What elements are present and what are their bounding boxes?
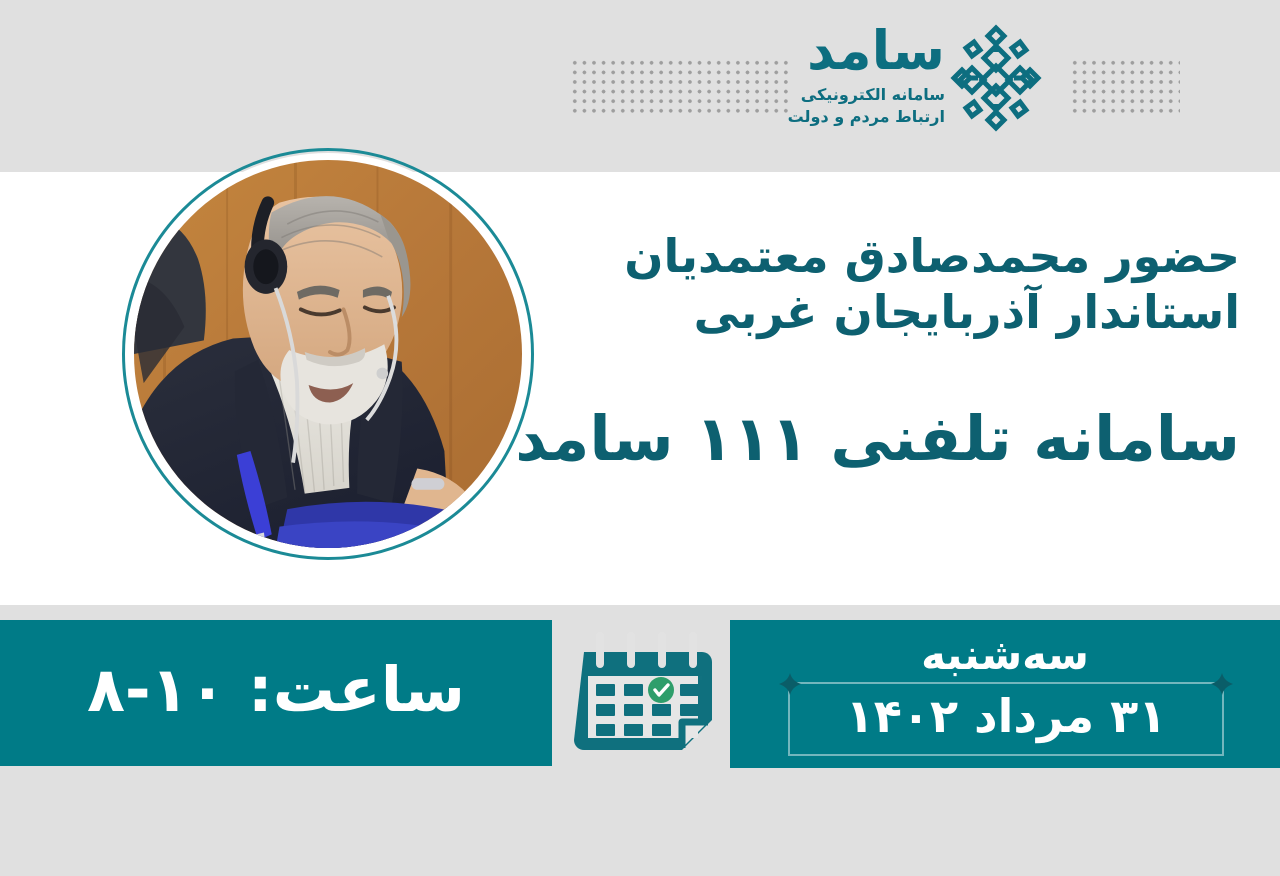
calendar-check-icon (570, 630, 716, 760)
logo-subtitle-line-1: سامانه الکترونیکی (788, 84, 945, 106)
date-frame: ۳۱ مرداد ۱۴۰۲ (788, 682, 1224, 756)
time-value: ساعت: ۱۰-۸ (0, 620, 552, 766)
poster-root: سامد سامانه الکترونیکی ارتباط مردم و دول… (0, 0, 1280, 876)
page-title: حضور محمدصادق معتمدیان استاندار آذربایجا… (540, 228, 1240, 340)
logo-wordmark: سامد (807, 24, 945, 78)
date-panel: سه‌شنبه ۳۱ مرداد ۱۴۰۲ (730, 620, 1280, 768)
header: سامد سامانه الکترونیکی ارتباط مردم و دول… (0, 0, 1280, 172)
subheadline: سامانه تلفنی ۱۱۱ سامد (540, 402, 1240, 476)
headline-line-1: حضور محمدصادق معتمدیان (540, 228, 1240, 284)
samad-geometric-star-logo-icon (946, 22, 1046, 134)
headline-line-2: استاندار آذربایجان غربی (540, 284, 1240, 340)
time-panel: ساعت: ۱۰-۸ (0, 620, 552, 766)
samad-logo: سامد سامانه الکترونیکی ارتباط مردم و دول… (795, 18, 1040, 138)
dot-grid-pattern-icon (1070, 58, 1180, 114)
logo-subtitle-line-2: ارتباط مردم و دولت (788, 106, 945, 128)
date-weekday: سه‌شنبه (730, 630, 1280, 679)
logo-subtitle: سامانه الکترونیکی ارتباط مردم و دولت (788, 84, 945, 127)
official-portrait-photo (134, 160, 522, 548)
dot-grid-pattern-icon (570, 58, 790, 114)
date-value: ۳۱ مرداد ۱۴۰۲ (790, 684, 1222, 754)
avatar (122, 148, 534, 560)
